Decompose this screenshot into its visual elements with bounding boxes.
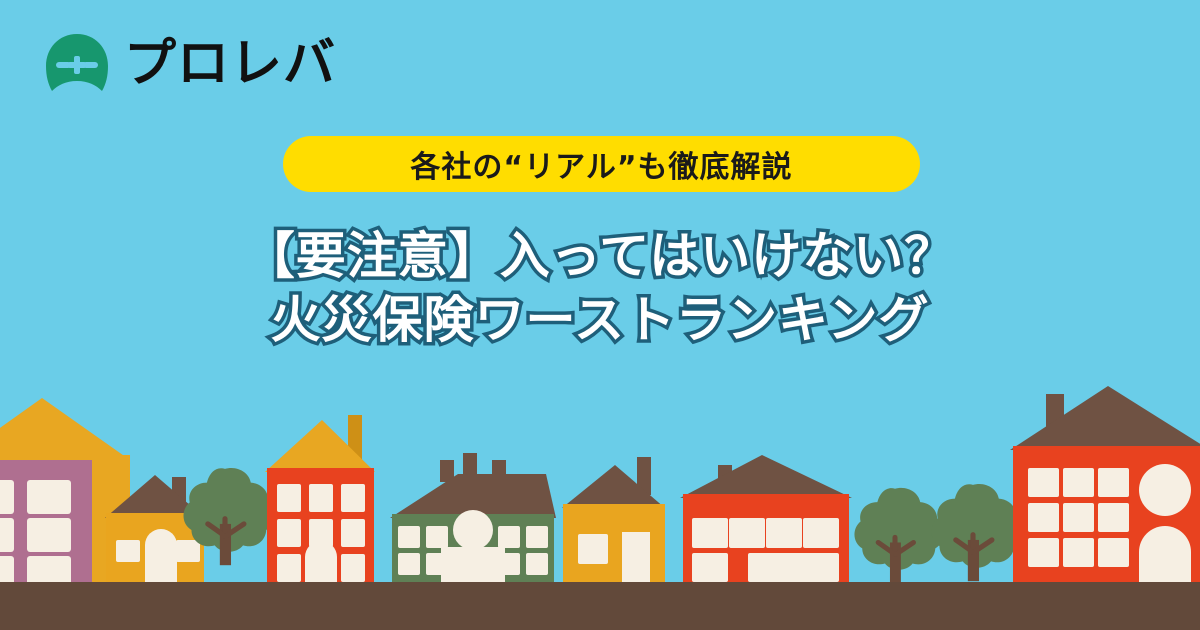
building-red-townhouse bbox=[265, 415, 375, 582]
building-red-wide-house bbox=[680, 455, 852, 582]
tree-right bbox=[931, 484, 1022, 581]
headline-line-2: 火災保険ワーストランキング bbox=[0, 288, 1200, 352]
headline-line-1: 【要注意】入ってはいけない？ bbox=[0, 224, 1200, 288]
brand-logo[interactable]: プロレバ bbox=[44, 33, 336, 95]
tree-middle-right bbox=[854, 488, 943, 583]
page-title: 【要注意】入ってはいけない？ 火災保険ワーストランキング bbox=[0, 224, 1200, 352]
ground-strip bbox=[0, 582, 1200, 630]
subtitle-badge: 各社の“リアル”も徹底解説 bbox=[283, 136, 920, 192]
og-image-canvas: プロレバ 各社の“リアル”も徹底解説 【要注意】入ってはいけない？ 火災保険ワー… bbox=[0, 0, 1200, 630]
green-dome-cap-icon bbox=[44, 33, 110, 95]
brand-name: プロレバ bbox=[124, 38, 336, 90]
subtitle-badge-text: 各社の“リアル”も徹底解説 bbox=[410, 142, 792, 186]
building-yellow-house bbox=[562, 457, 665, 582]
building-green-hall bbox=[390, 453, 556, 582]
building-red-block bbox=[1010, 386, 1200, 582]
